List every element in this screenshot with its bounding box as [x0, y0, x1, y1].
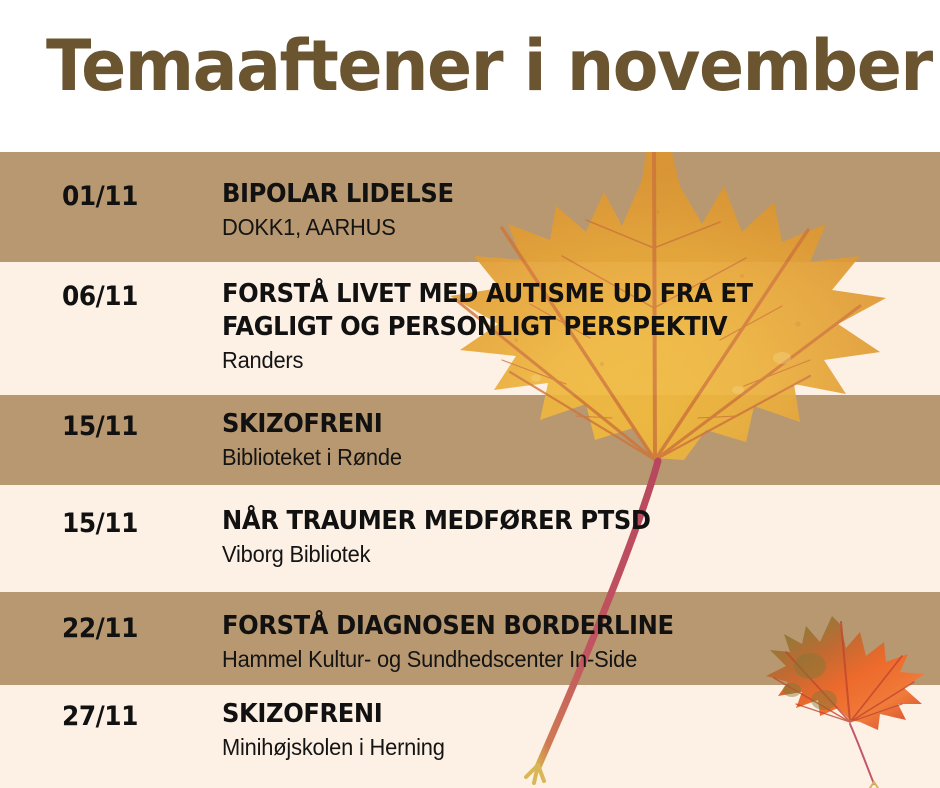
- event-venue: Randers: [222, 346, 887, 376]
- event-date: 15/11: [62, 508, 138, 539]
- event-body: BIPOLAR LIDELSEDOKK1, AARHUS: [222, 178, 922, 243]
- event-venue: Hammel Kultur- og Sundhedscenter In-Side: [222, 645, 887, 675]
- poster-header: Temaaftener i november: [0, 0, 940, 152]
- event-venue: Minihøjskolen i Herning: [222, 733, 887, 763]
- page-title: Temaaftener i november: [46, 26, 932, 107]
- event-date: 15/11: [62, 411, 138, 442]
- event-title: NÅR TRAUMER MEDFØRER PTSD: [222, 505, 873, 538]
- event-title: SKIZOFRENI: [222, 698, 873, 731]
- event-date: 27/11: [62, 701, 138, 732]
- event-date: 22/11: [62, 613, 138, 644]
- event-title: FORSTÅ LIVET MED AUTISME UD FRA ET FAGLI…: [222, 278, 873, 344]
- event-body: FORSTÅ DIAGNOSEN BORDERLINEHammel Kultur…: [222, 610, 922, 675]
- event-body: SKIZOFRENIMinihøjskolen i Herning: [222, 698, 922, 763]
- event-date: 01/11: [62, 181, 138, 212]
- event-title: SKIZOFRENI: [222, 408, 873, 441]
- event-venue: Biblioteket i Rønde: [222, 443, 887, 473]
- event-body: SKIZOFRENIBiblioteket i Rønde: [222, 408, 922, 473]
- event-body: FORSTÅ LIVET MED AUTISME UD FRA ET FAGLI…: [222, 278, 922, 376]
- event-title: BIPOLAR LIDELSE: [222, 178, 873, 211]
- event-venue: Viborg Bibliotek: [222, 540, 887, 570]
- event-venue: DOKK1, AARHUS: [222, 213, 887, 243]
- event-date: 06/11: [62, 281, 138, 312]
- event-body: NÅR TRAUMER MEDFØRER PTSDViborg Bibliote…: [222, 505, 922, 570]
- event-title: FORSTÅ DIAGNOSEN BORDERLINE: [222, 610, 873, 643]
- poster-root: Temaaftener i november 01/11BIPOLAR LIDE…: [0, 0, 940, 788]
